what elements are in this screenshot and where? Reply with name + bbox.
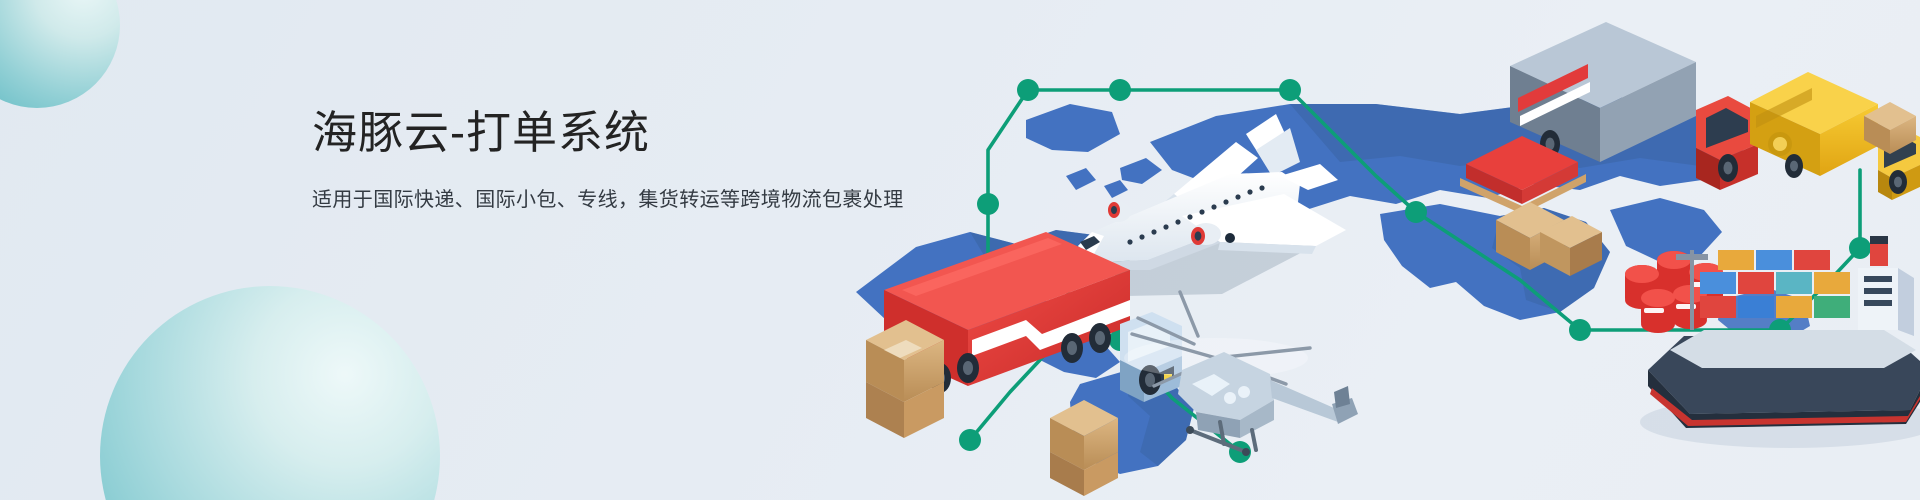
hero-banner: 海豚云-打单系统 适用于国际快递、国际小包、专线，集货转运等跨境物流包裹处理 <box>0 0 1920 500</box>
cardboard-boxes <box>1050 400 1118 496</box>
cardboard-boxes <box>866 320 944 438</box>
engine-front <box>1191 223 1221 245</box>
global-logistics-illustration <box>820 0 1920 500</box>
engine-rear <box>1105 202 1131 222</box>
decorative-circle-bottom-left <box>100 286 440 500</box>
decorative-circle-top-left <box>0 0 120 108</box>
